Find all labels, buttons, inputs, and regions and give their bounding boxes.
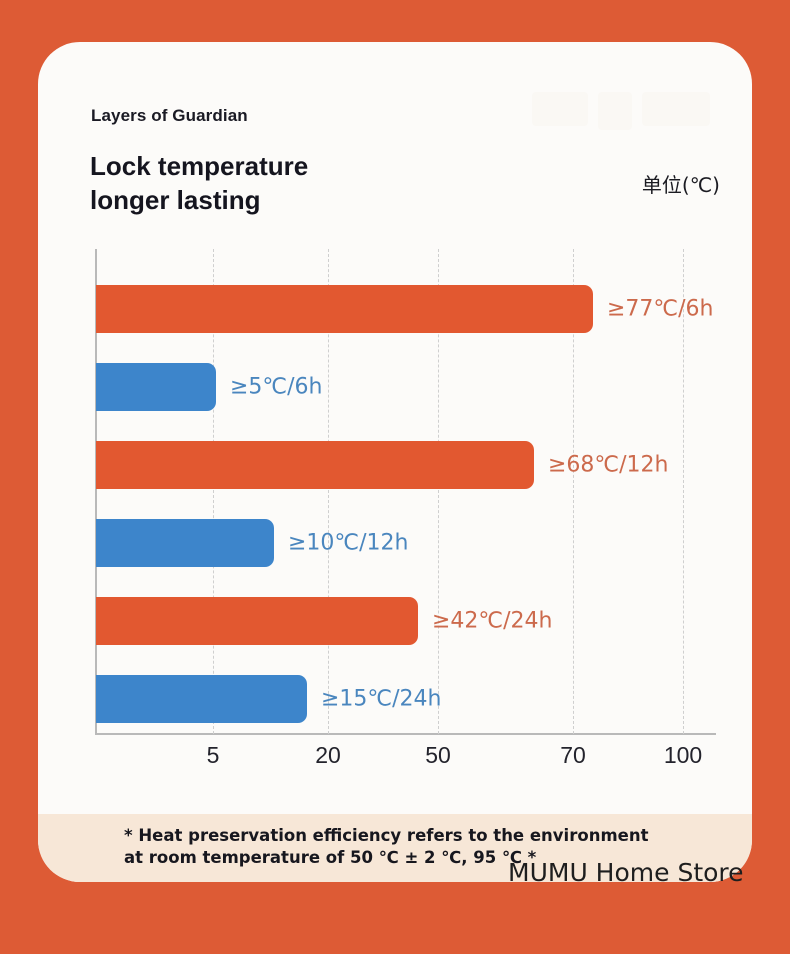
- x-tick-label: 20: [315, 742, 341, 769]
- watermark-block-3: [642, 92, 710, 126]
- eyebrow-text: Layers of Guardian: [91, 106, 248, 126]
- x-tick-label: 100: [664, 742, 702, 769]
- store-watermark: MUMU Home Store: [508, 858, 744, 887]
- bar-hot: [96, 597, 418, 645]
- x-tick-label: 5: [207, 742, 220, 769]
- bar-cold: [96, 519, 274, 567]
- bar-value-label: ≥77℃/6h: [607, 297, 714, 322]
- bar-value-label: ≥10℃/12h: [288, 531, 408, 556]
- bar-chart: 5205070100 ≥77℃/6h≥5℃/6h≥68℃/12h≥10℃/12h…: [90, 249, 716, 767]
- x-tick-label: 50: [425, 742, 451, 769]
- info-card: Layers of Guardian Lock temperature long…: [38, 42, 752, 882]
- bar-value-label: ≥42℃/24h: [432, 609, 552, 634]
- watermark-block-1: [532, 92, 588, 126]
- bar-hot: [96, 441, 534, 489]
- bar-value-label: ≥68℃/12h: [548, 453, 668, 478]
- page-title: Lock temperature longer lasting: [90, 149, 308, 218]
- bar-hot: [96, 285, 593, 333]
- gridline: [683, 249, 684, 734]
- x-tick-label: 70: [560, 742, 586, 769]
- bar-cold: [96, 363, 216, 411]
- bar-value-label: ≥5℃/6h: [230, 375, 323, 400]
- bar-cold: [96, 675, 307, 723]
- watermark-block-2: [598, 92, 632, 130]
- bar-value-label: ≥15℃/24h: [321, 687, 441, 712]
- x-axis-line: [95, 733, 716, 735]
- unit-label: 单位(℃): [642, 169, 720, 198]
